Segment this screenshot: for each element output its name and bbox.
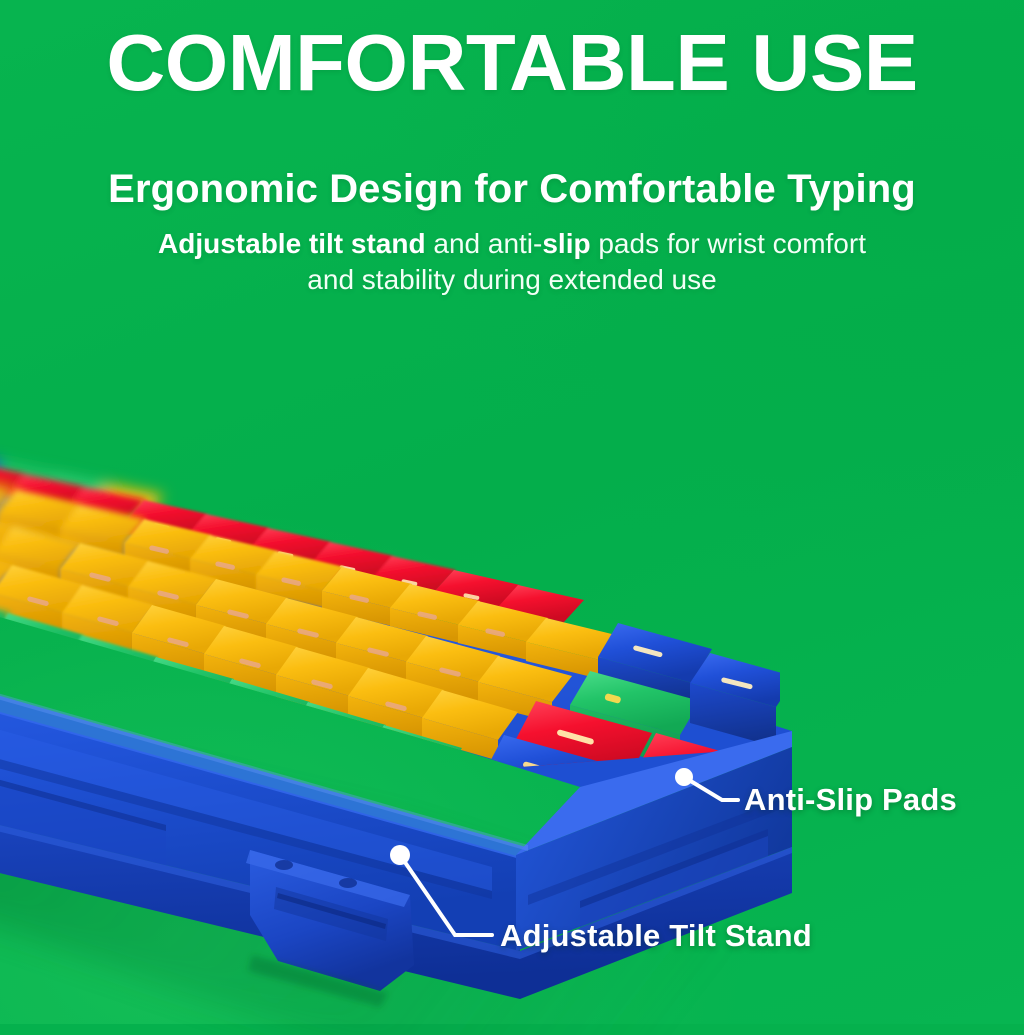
description-plain-2: pads for wrist comfort — [591, 228, 866, 259]
description: Adjustable tilt stand and anti-slip pads… — [0, 226, 1024, 298]
text-block: COMFORTABLE USE Ergonomic Design for Com… — [0, 0, 1024, 298]
description-line-2: and stability during extended use — [307, 264, 716, 295]
description-line-1: Adjustable tilt stand and anti-slip pads… — [158, 228, 866, 259]
callout-label-adjustable-tilt-stand: Adjustable Tilt Stand — [500, 918, 812, 954]
callout-label-anti-slip-pads: Anti-Slip Pads — [744, 782, 957, 818]
subtitle: Ergonomic Design for Comfortable Typing — [0, 166, 1024, 212]
description-bold-2: slip — [542, 228, 590, 259]
description-plain-1: and anti- — [426, 228, 543, 259]
page-title: COMFORTABLE USE — [0, 22, 1024, 104]
description-bold-1: Adjustable tilt stand — [158, 228, 426, 259]
